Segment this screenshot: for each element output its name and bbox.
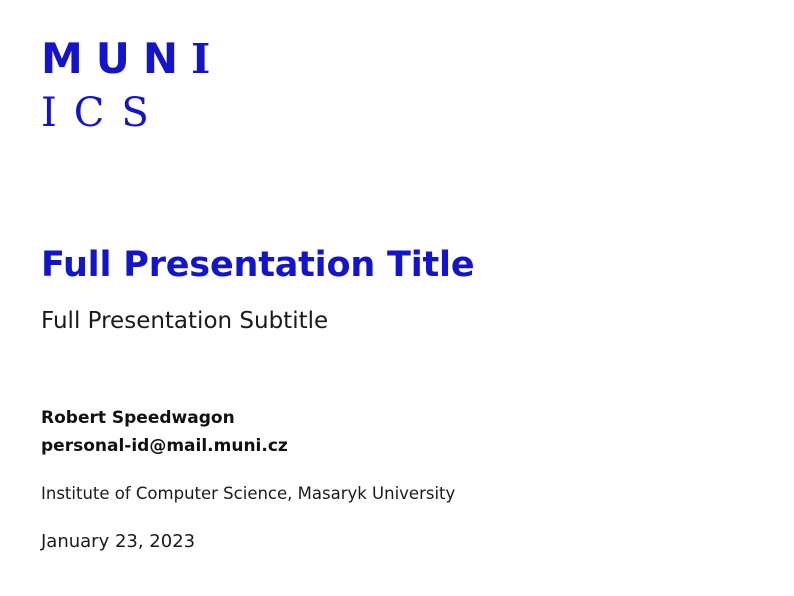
presentation-subtitle: Full Presentation Subtitle [41, 306, 328, 336]
title-slide: MUNI ICS Full Presentation Title Full Pr… [0, 0, 794, 596]
logo-text-ics: ICS [41, 90, 223, 136]
author-name: Robert Speedwagon [41, 404, 288, 432]
logo-text-muni: MUNI [41, 36, 223, 82]
presentation-title: Full Presentation Title [41, 245, 474, 285]
logo-muni-serif-i: I [191, 35, 223, 83]
muni-ics-logo: MUNI ICS [41, 36, 223, 136]
author-email: personal-id@mail.muni.cz [41, 432, 288, 460]
logo-muni-letters: MUN [41, 34, 191, 83]
affiliation-text: Institute of Computer Science, Masaryk U… [41, 482, 455, 506]
presentation-date: January 23, 2023 [41, 529, 195, 555]
author-block: Robert Speedwagon personal-id@mail.muni.… [41, 404, 288, 460]
